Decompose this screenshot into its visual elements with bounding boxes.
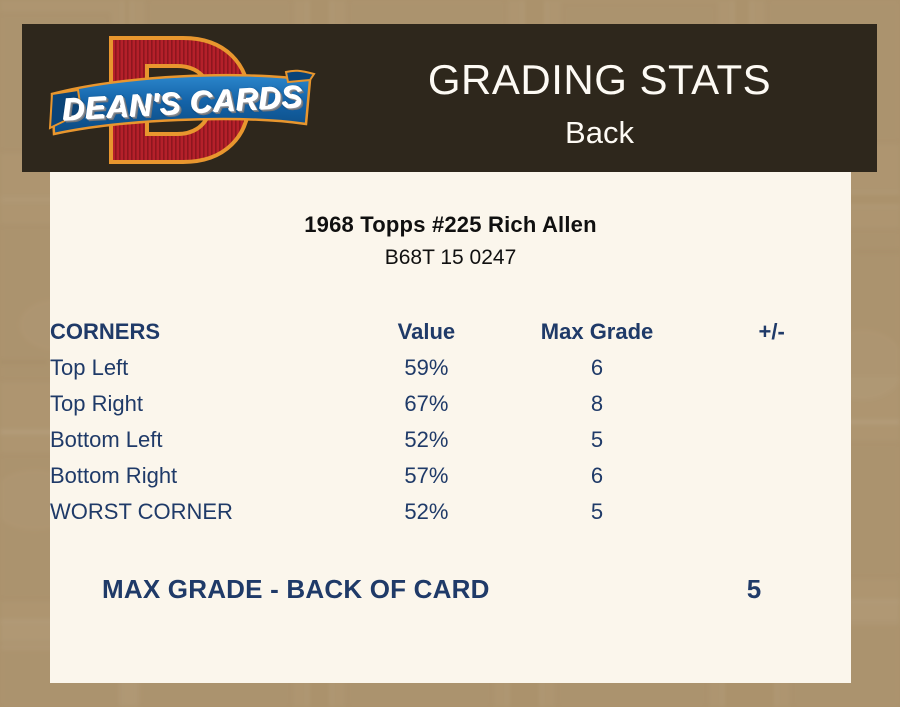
table-header-row: CORNERS Value Max Grade +/- [50,314,851,350]
corners-stats-table: CORNERS Value Max Grade +/- Top Left 59%… [50,314,851,530]
row-plus-minus [692,494,851,530]
max-grade-summary: MAX GRADE - BACK OF CARD 5 [50,570,851,608]
card-title: 1968 Topps #225 Rich Allen [50,212,851,238]
row-label: Top Left [50,350,351,386]
row-value: 52% [351,494,502,530]
row-max-grade: 5 [502,422,693,458]
column-header-max-grade: Max Grade [502,314,693,350]
table-row: Bottom Right 57% 6 [50,458,851,494]
row-max-grade: 6 [502,350,693,386]
row-label: WORST CORNER [50,494,351,530]
row-value: 59% [351,350,502,386]
max-grade-summary-label: MAX GRADE - BACK OF CARD [102,570,490,608]
header-bar: DEAN'S CARDS GRADING STATS Back [22,24,877,172]
max-grade-summary-value: 5 [675,570,833,608]
table-body: Top Left 59% 6 Top Right 67% 8 Bottom Le… [50,350,851,530]
row-max-grade: 6 [502,458,693,494]
row-label: Bottom Left [50,422,351,458]
table-row: Top Right 67% 8 [50,386,851,422]
row-max-grade: 5 [502,494,693,530]
row-value: 57% [351,458,502,494]
page-subtitle: Back [322,117,877,148]
row-value: 52% [351,422,502,458]
row-label: Bottom Right [50,458,351,494]
column-header-corners: CORNERS [50,314,351,350]
row-plus-minus [692,386,851,422]
page-title: GRADING STATS [322,59,877,101]
table-row-worst-corner: WORST CORNER 52% 5 [50,494,851,530]
column-header-value: Value [351,314,502,350]
content-panel: 1968 Topps #225 Rich Allen B68T 15 0247 … [50,172,851,683]
row-value: 67% [351,386,502,422]
column-header-plus-minus: +/- [692,314,851,350]
row-label: Top Right [50,386,351,422]
row-plus-minus [692,422,851,458]
table-row: Bottom Left 52% 5 [50,422,851,458]
grading-stats-page: DEAN'S CARDS GRADING STATS Back 1968 Top… [0,0,900,707]
deans-cards-logo[interactable]: DEAN'S CARDS [48,28,318,170]
row-max-grade: 8 [502,386,693,422]
card-serial-number: B68T 15 0247 [50,246,851,270]
table-row: Top Left 59% 6 [50,350,851,386]
row-plus-minus [692,458,851,494]
row-plus-minus [692,350,851,386]
logo-wordmark: DEAN'S CARDS [46,61,320,148]
table-header: CORNERS Value Max Grade +/- [50,314,851,350]
